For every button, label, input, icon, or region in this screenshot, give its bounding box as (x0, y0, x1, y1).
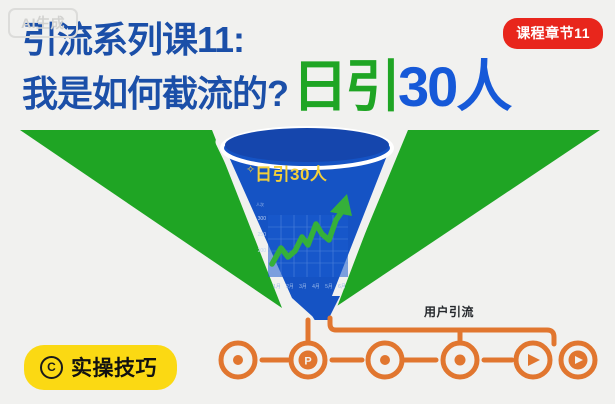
flow-top-bracket (330, 318, 554, 344)
headline-line-1: 引流系列课11: (22, 20, 510, 60)
flow-node-4[interactable] (443, 343, 477, 377)
flow-node-1[interactable] (221, 343, 255, 377)
headline-line-2: 我是如何截流的? 日引 30人 (22, 62, 510, 114)
copyright-icon: C (40, 356, 63, 379)
poster-canvas: AI生成 课程章节11 引流系列课11: 我是如何截流的? 日引 30人 (0, 0, 615, 404)
svg-text:200: 200 (258, 248, 267, 254)
flow-node-3[interactable] (368, 343, 402, 377)
funnel-title: 日引30人 (255, 160, 327, 185)
headline-question: 我是如何截流的? (22, 74, 288, 114)
flow-node-5-play[interactable] (516, 343, 550, 377)
sparkle-icon: ✧ (246, 163, 255, 176)
funnel-rim-inner (225, 128, 389, 162)
skill-tag: C 实操技巧 (24, 345, 177, 390)
headline-highlight-green: 日引 (292, 62, 398, 112)
svg-text:250: 250 (258, 232, 267, 238)
flow-node-2-p[interactable]: P (291, 343, 325, 377)
svg-text:300: 300 (258, 216, 267, 222)
flow-node-6-play[interactable] (561, 343, 595, 377)
flow-label: 用户引流 (424, 303, 474, 320)
svg-text:人次: 人次 (256, 201, 264, 207)
headline-highlight-blue: 30人 (398, 62, 510, 112)
skill-tag-label: 实操技巧 (71, 352, 157, 382)
chapter-badge: 课程章节11 (503, 18, 603, 49)
svg-text:P: P (304, 356, 311, 368)
headline-block: 引流系列课11: 我是如何截流的? 日引 30人 (22, 20, 510, 115)
